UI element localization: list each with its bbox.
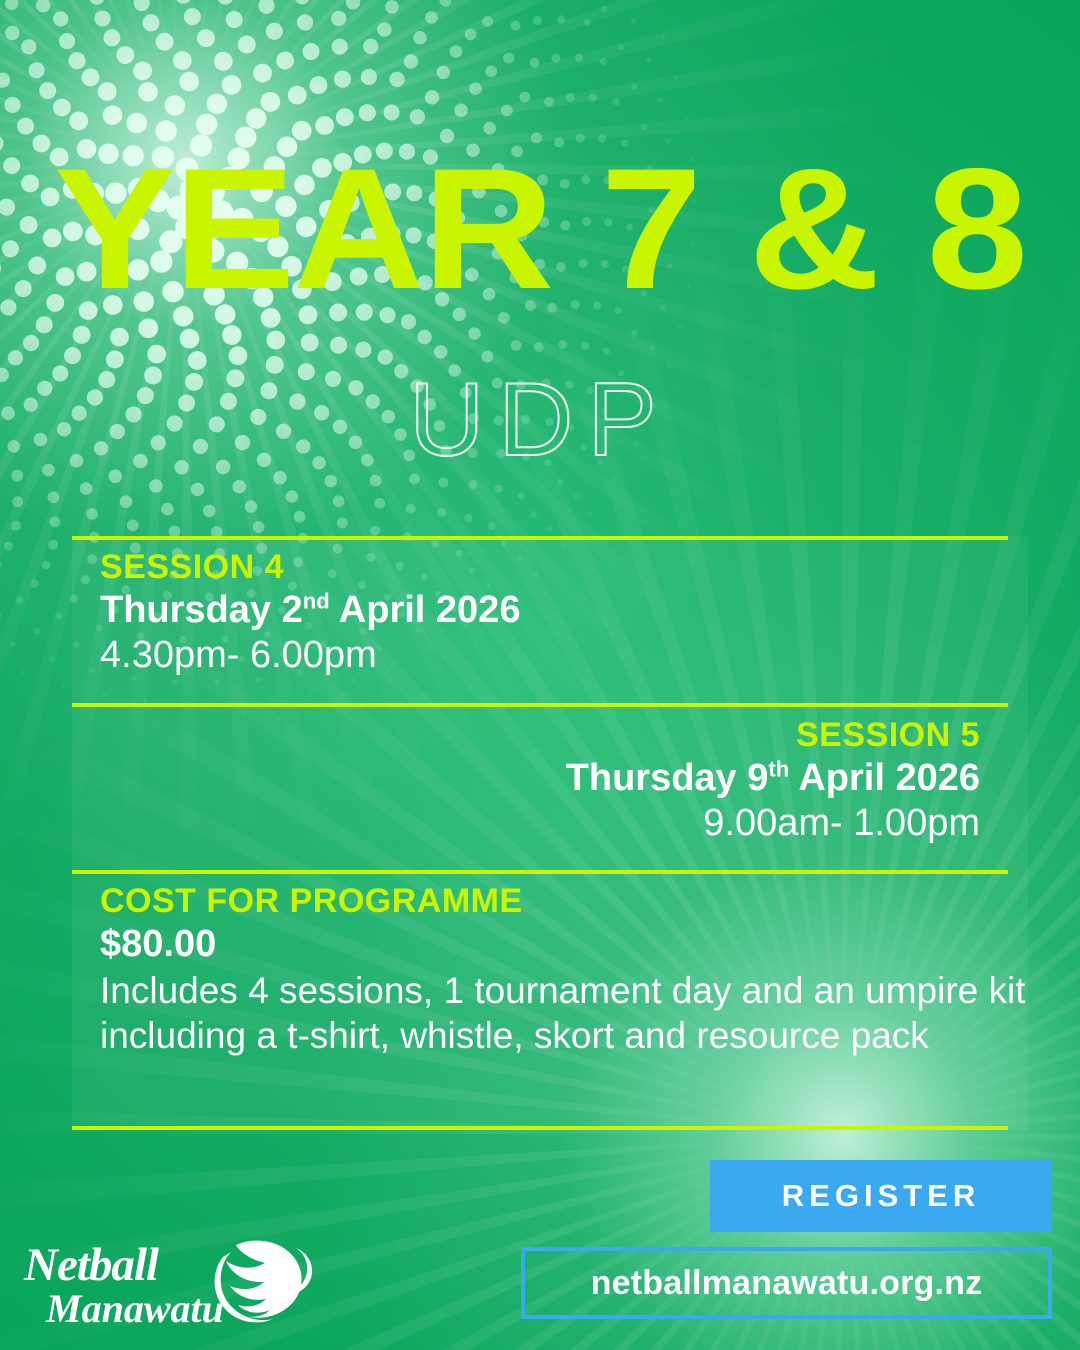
- subhead-container: UDP: [0, 368, 1080, 472]
- panel-rule-divider-1: [72, 703, 1008, 707]
- cost-block: COST FOR PROGRAMME $80.00 Includes 4 ses…: [100, 882, 1030, 1058]
- website-url-text: netballmanawatu.org.nz: [591, 1264, 983, 1303]
- session-block-5: SESSION 5 Thursday 9th April 2026 9.00am…: [566, 716, 980, 845]
- session-5-date: Thursday 9th April 2026: [566, 757, 980, 800]
- session-4-time: 4.30pm- 6.00pm: [100, 634, 520, 677]
- session-5-label: SESSION 5: [566, 716, 980, 755]
- session-4-label: SESSION 4: [100, 548, 520, 587]
- session-4-date-ordinal: nd: [303, 588, 330, 613]
- session-4-date: Thursday 2nd April 2026: [100, 589, 520, 632]
- panel-rule-top: [72, 536, 1008, 540]
- session-4-date-suffix: April 2026: [330, 589, 521, 631]
- website-url-box[interactable]: netballmanawatu.org.nz: [521, 1247, 1052, 1319]
- headline-year-7-and-8: YEAR 7 & 8: [0, 150, 1080, 308]
- subhead-udp: UDP: [0, 368, 1080, 472]
- logo-text-manawatu: Manawatu: [45, 1286, 224, 1331]
- session-4-date-prefix: Thursday 2: [100, 589, 303, 631]
- poster-canvas: YEAR 7 & 8 UDP SESSION 4 Thursday 2nd Ap…: [0, 0, 1080, 1350]
- netball-swoosh-icon: [215, 1241, 312, 1323]
- session-5-date-prefix: Thursday 9: [566, 757, 769, 799]
- netball-manawatu-logo: Netball Manawatu: [22, 1236, 312, 1336]
- headline-container: YEAR 7 & 8: [0, 150, 1080, 308]
- panel-rule-divider-2: [72, 870, 1008, 874]
- cost-label: COST FOR PROGRAMME: [100, 882, 1030, 921]
- session-5-date-ordinal: th: [768, 756, 789, 781]
- panel-rule-bottom: [72, 1126, 1008, 1130]
- session-5-date-suffix: April 2026: [789, 757, 980, 799]
- register-button[interactable]: REGISTER: [710, 1160, 1052, 1232]
- cost-description: Includes 4 sessions, 1 tournament day an…: [100, 968, 1030, 1058]
- session-5-time: 9.00am- 1.00pm: [566, 802, 980, 845]
- session-block-4: SESSION 4 Thursday 2nd April 2026 4.30pm…: [100, 548, 520, 677]
- logo-text-netball: Netball: [23, 1239, 159, 1291]
- cost-price: $80.00: [100, 923, 1030, 966]
